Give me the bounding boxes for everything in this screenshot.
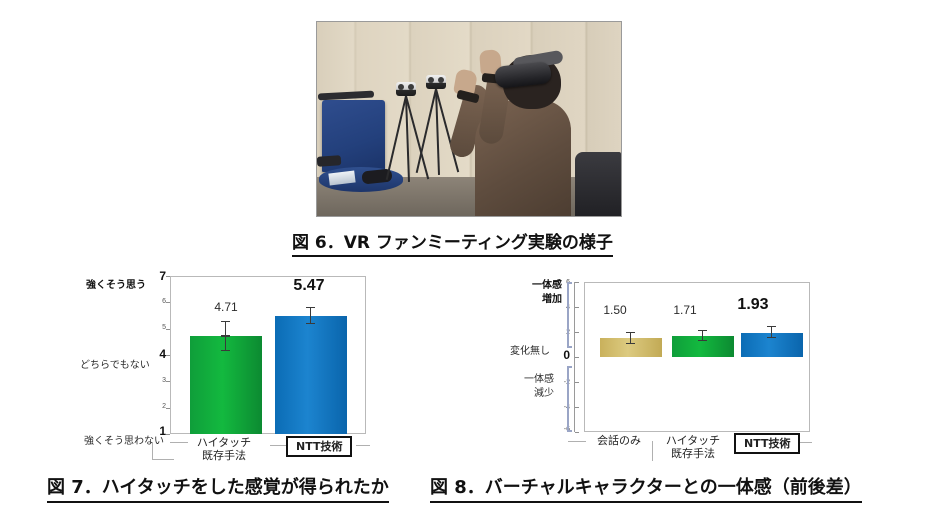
figure8-anchor-top-line1: 一体感 [508, 280, 562, 292]
figure7-bars-layer [170, 276, 366, 434]
figure7-ytick-2: 2 [140, 403, 166, 410]
figure7-caption: 図 7．ハイタッチをした感覚が得られたか [47, 473, 389, 503]
figure7-ytick-6: 6 [140, 298, 166, 305]
figure8-errorbar-conversation [630, 332, 631, 344]
figure8-tickmark [575, 282, 579, 283]
figure8-chart: 6 4 2 0 -2 -4 -6 一体感 増加 変化無し 一体感 減少 1.50… [512, 286, 812, 466]
figure8-tickmark [575, 432, 579, 433]
figure8-cat-connector [800, 442, 812, 443]
figure8-caption: 図 8．バーチャルキャラクターとの一体感（前後差） [430, 473, 862, 503]
figure7-cat-connector [356, 445, 370, 446]
figure7-bar-ntt [275, 316, 347, 434]
figure7-anchor-mid: どちらでもない [80, 360, 142, 372]
figure8-errorbar-hightouch [702, 330, 703, 341]
figure8-anchor-bottom-line1: 一体感 [504, 374, 554, 386]
dark-chair-right [575, 152, 621, 217]
figure8-tickmark [575, 357, 579, 358]
figure8-tickmark [575, 382, 579, 383]
figure7-xcat-hightouch-line2: 既存手法 [180, 449, 268, 462]
figure7-ytick-5: 5 [140, 324, 166, 331]
figure8-tickmark [575, 332, 579, 333]
figure8-xcat-ntt: NTT技術 [734, 433, 800, 454]
figure6-photo [316, 21, 622, 217]
figure8-value-label-hightouch: 1.71 [660, 303, 710, 317]
figure8-bar-conversation [600, 338, 662, 357]
figure7-value-label-hightouch: 4.71 [206, 300, 246, 314]
camera-icon [396, 82, 416, 96]
figure8-anchor-bottom-line2: 減少 [504, 388, 554, 400]
figure7-errorbar-ntt [310, 307, 311, 324]
blue-chair-armrest [317, 155, 342, 167]
figure7-errorbar-hightouch [225, 321, 226, 351]
figure8-anchor-zero: 変化無し [500, 346, 550, 358]
figure7-ytick-3: 3 [140, 377, 166, 384]
figure8-xcat-conversation: 会話のみ [584, 434, 654, 447]
camera-icon [426, 75, 446, 89]
figure7-xcat-ntt: NTT技術 [286, 436, 352, 457]
figure8-xcat-hightouch-line2: 既存手法 [654, 447, 732, 460]
figure8-errorbar-ntt [771, 326, 772, 338]
figure7-chart: 7 6 5 4 3 2 1 強くそう思う どちらでもない 強くそう思わない 4.… [88, 268, 368, 458]
figure7-anchor-bottom: 強くそう思わない [76, 436, 164, 448]
figure8-xcat-hightouch: ハイタッチ 既存手法 [654, 434, 732, 460]
figure8-value-label-conversation: 1.50 [590, 303, 640, 317]
figure7-xcat-hightouch: ハイタッチ 既存手法 [180, 436, 268, 462]
figure7-xcat-hightouch-line1: ハイタッチ [180, 436, 268, 449]
figure8-ytick-0: 0 [552, 348, 570, 362]
figure7-ytick-4: 4 [140, 347, 166, 361]
figure8-axis-bracket [652, 441, 654, 461]
figure8-anchor-top-line2: 増加 [508, 294, 562, 306]
figure7-anchor-top: 強くそう思う [86, 280, 142, 292]
figure8-increase-bracket [567, 282, 572, 348]
figure8-decrease-bracket [567, 366, 572, 432]
figure7-value-label-ntt: 5.47 [286, 277, 332, 295]
figure8-value-label-ntt: 1.93 [727, 296, 779, 314]
figure6-caption: 図 6．VR ファンミーティング実験の様子 [292, 228, 613, 257]
figure7-tickmark [166, 434, 170, 435]
photo-frame [316, 21, 622, 217]
figure7-axis-bracket [152, 442, 174, 460]
figure8-tickmark [575, 307, 579, 308]
figure8-tickmark [575, 407, 579, 408]
figure8-xcat-hightouch-line1: ハイタッチ [654, 434, 732, 447]
